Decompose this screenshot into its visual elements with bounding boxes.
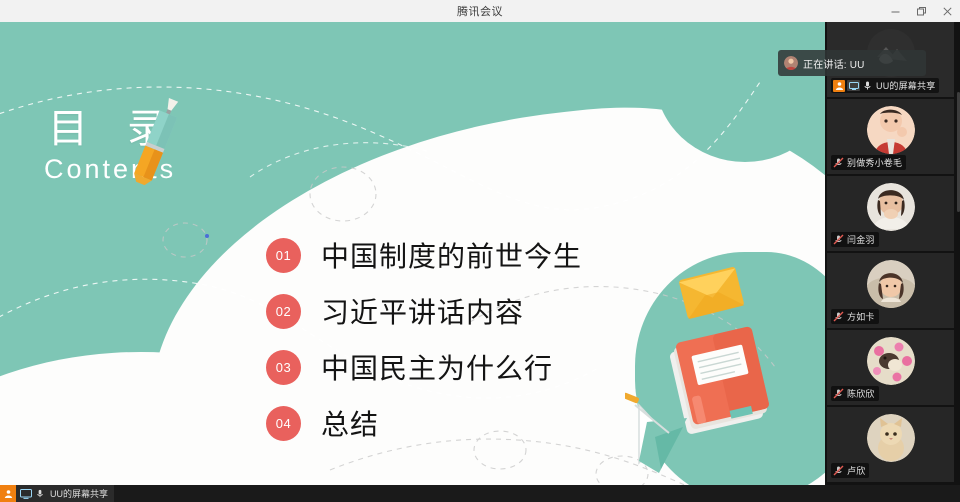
photo-avatar-woman-image [867,183,915,231]
minimize-button[interactable] [882,0,908,22]
contents-list: 01 中国制度的前世今生 02 习近平讲话内容 03 中国民主为什么行 04 总… [266,227,582,451]
screen-share-status-chip[interactable]: UU的屏幕共享 [0,485,114,502]
participant-tile[interactable]: 陈欣欣 [827,330,954,405]
participant-tile[interactable]: 别做秀小卷毛 [827,99,954,174]
avatar [867,337,915,385]
participant-name: 别做秀小卷毛 [847,156,902,169]
restore-icon [916,6,927,17]
participants-sidebar[interactable]: UU的屏幕共享 [825,22,960,485]
cartoon-avatar-image [867,106,915,154]
microphone-muted-icon [833,388,844,399]
bottom-status-bar: UU的屏幕共享 [0,485,960,502]
screen-share-icon [847,80,860,91]
participant-name: 卢欣 [847,464,865,477]
item-number-badge: 04 [266,406,301,441]
participant-label: 方如卡 [831,309,879,324]
speaker-avatar [784,56,798,70]
flask-icon [625,392,687,473]
tencent-meeting-window: 腾讯会议 [0,0,960,502]
close-icon [942,6,953,17]
avatar [867,260,915,308]
list-item[interactable]: 04 总结 [266,395,582,451]
item-label: 习近平讲话内容 [321,291,524,331]
participant-tile[interactable]: 闫金羽 [827,176,954,251]
presentation-slide: 目 录 Contents 01 [0,22,825,485]
participant-tile[interactable]: 卢欣 [827,407,954,482]
avatar [867,183,915,231]
microphone-muted-icon [833,465,844,476]
participant-name: 闫金羽 [847,233,875,246]
speaker-avatar-image [784,56,798,70]
participant-label: 卢欣 [831,463,869,478]
avatar [867,414,915,462]
screen-share-icon [20,489,32,499]
list-item[interactable]: 03 中国民主为什么行 [266,339,582,395]
avatar [867,106,915,154]
participant-label: 闫金羽 [831,232,879,247]
host-icon [0,485,16,502]
minimize-icon [890,6,901,17]
shared-screen-stage[interactable]: 目 录 Contents 01 [0,22,825,485]
photo-avatar-girl-image [867,260,915,308]
microphone-icon [862,80,873,91]
close-button[interactable] [934,0,960,22]
maximize-button[interactable] [908,0,934,22]
share-status-label: UU的屏幕共享 [50,487,108,500]
photo-avatar-flowers-image [867,337,915,385]
item-number-badge: 02 [266,294,301,329]
item-number-badge: 01 [266,238,301,273]
microphone-icon [35,488,45,499]
microphone-muted-icon [833,234,844,245]
participant-label: UU的屏幕共享 [831,78,939,93]
item-label: 中国制度的前世今生 [321,235,582,275]
participant-label: 陈欣欣 [831,386,879,401]
photo-avatar-cat-image [867,414,915,462]
participant-name: UU的屏幕共享 [876,79,935,92]
item-label: 中国民主为什么行 [321,347,553,387]
microphone-muted-icon [833,157,844,168]
blue-dot-marker [205,234,209,238]
participant-name: 方如卡 [847,310,875,323]
pencil-icon [128,95,188,187]
active-speaker-tooltip: 正在讲话: UU [778,50,926,76]
tooltip-text: 正在讲话: UU [803,56,865,71]
window-title: 腾讯会议 [457,3,503,19]
participant-name: 陈欣欣 [847,387,875,400]
list-item[interactable]: 01 中国制度的前世今生 [266,227,582,283]
item-label: 总结 [321,403,379,443]
participant-label: 别做秀小卷毛 [831,155,906,170]
list-item[interactable]: 02 习近平讲话内容 [266,283,582,339]
item-number-badge: 03 [266,350,301,385]
title-bar: 腾讯会议 [0,0,960,22]
envelope-icon [679,266,745,319]
host-icon [833,80,845,92]
participant-tile[interactable]: 方如卡 [827,253,954,328]
window-controls [882,0,960,22]
microphone-muted-icon [833,311,844,322]
stationery-illustration [625,265,805,485]
